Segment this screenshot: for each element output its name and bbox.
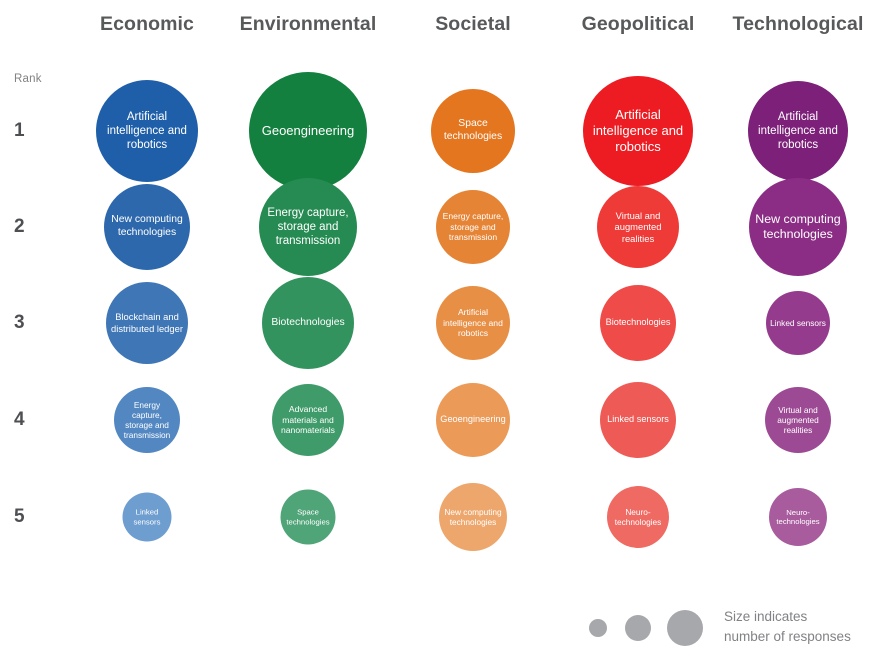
bubble-label: Energy capture, storage and transmission [118,400,176,441]
bubble-label: Linked sensors [604,414,672,425]
bubble-label: Energy capture, storage and transmission [440,211,506,243]
bubble-economic-rank-4[interactable]: Energy capture, storage and transmission [114,387,180,453]
bubble-economic-rank-2[interactable]: New computing technologies [104,184,190,270]
bubble-societal-rank-5[interactable]: New computing technologies [439,483,507,551]
bubble-geopolitical-rank-5[interactable]: Neuro-technologies [607,486,669,548]
bubble-label: Neuro-technologies [611,507,665,527]
bubble-environmental-rank-5[interactable]: Space technologies [281,490,336,545]
rank-label-4: 4 [14,409,48,431]
bubble-label: Biotechnologies [604,317,672,328]
bubble-technological-rank-1[interactable]: Artificial intelligence and robotics [748,81,848,181]
bubble-label: Artificial intelligence and robotics [100,110,194,152]
bubble-label: Energy capture, storage and transmission [263,206,353,248]
bubble-societal-rank-2[interactable]: Energy capture, storage and transmission [436,190,510,264]
bubble-label: Blockchain and distributed ledger [110,311,184,334]
bubble-ranking-chart: Rank EconomicEnvironmentalSocietalGeopol… [0,0,886,660]
legend-dot-1 [589,619,607,637]
bubble-label: Linked sensors [770,318,826,328]
column-header-economic: Economic [100,13,194,36]
legend-size-scale [572,606,712,650]
legend-line-2: number of responses [724,627,851,647]
column-header-societal: Societal [435,13,511,36]
bubble-geopolitical-rank-2[interactable]: Virtual and augmented realities [597,186,679,268]
legend-text: Size indicates number of responses [724,607,851,646]
rank-label-5: 5 [14,506,48,528]
bubble-environmental-rank-3[interactable]: Biotechnologies [262,277,354,369]
legend-dot-2 [625,615,651,641]
bubble-technological-rank-3[interactable]: Linked sensors [766,291,830,355]
bubble-geopolitical-rank-3[interactable]: Biotechnologies [600,285,676,361]
column-header-geopolitical: Geopolitical [582,13,695,36]
bubble-label: Biotechnologies [266,317,350,330]
bubble-label: Artificial intelligence and robotics [752,110,844,152]
bubble-environmental-rank-1[interactable]: Geoengineering [249,72,367,190]
bubble-economic-rank-3[interactable]: Blockchain and distributed ledger [106,282,188,364]
bubble-societal-rank-4[interactable]: Geoengineering [436,383,510,457]
bubble-label: New computing technologies [753,212,843,243]
bubble-societal-rank-1[interactable]: Space technologies [431,89,515,173]
bubble-label: Space technologies [285,508,332,527]
bubble-label: Geoengineering [440,414,506,425]
legend-dot-3 [667,610,703,646]
bubble-label: Artificial intelligence and robotics [440,307,506,339]
bubble-economic-rank-5[interactable]: Linked sensors [123,493,172,542]
rank-label-1: 1 [14,120,48,142]
column-header-technological: Technological [733,13,864,36]
bubble-label: Virtual and augmented realities [601,210,675,245]
bubble-environmental-rank-2[interactable]: Energy capture, storage and transmission [259,178,357,276]
bubble-label: Geoengineering [253,123,363,139]
bubble-label: Linked sensors [127,508,168,527]
bubble-environmental-rank-4[interactable]: Advanced materials and nanomaterials [272,384,344,456]
rank-axis-caption: Rank [14,73,42,85]
bubble-label: New computing technologies [108,214,186,240]
bubble-societal-rank-3[interactable]: Artificial intelligence and robotics [436,286,510,360]
bubble-geopolitical-rank-4[interactable]: Linked sensors [600,382,676,458]
bubble-label: Neuro-technologies [773,508,823,527]
column-header-environmental: Environmental [240,13,377,36]
rank-label-2: 2 [14,216,48,238]
bubble-label: Virtual and augmented realities [769,405,827,436]
legend-line-1: Size indicates [724,607,851,627]
bubble-label: Advanced materials and nanomaterials [276,404,340,436]
bubble-technological-rank-2[interactable]: New computing technologies [749,178,847,276]
bubble-economic-rank-1[interactable]: Artificial intelligence and robotics [96,80,198,182]
bubble-technological-rank-5[interactable]: Neuro-technologies [769,488,827,546]
bubble-technological-rank-4[interactable]: Virtual and augmented realities [765,387,831,453]
bubble-geopolitical-rank-1[interactable]: Artificial intelligence and robotics [583,76,693,186]
rank-label-3: 3 [14,312,48,334]
bubble-label: Space technologies [435,118,511,144]
bubble-label: New computing technologies [443,507,503,527]
bubble-label: Artificial intelligence and robotics [587,107,689,155]
